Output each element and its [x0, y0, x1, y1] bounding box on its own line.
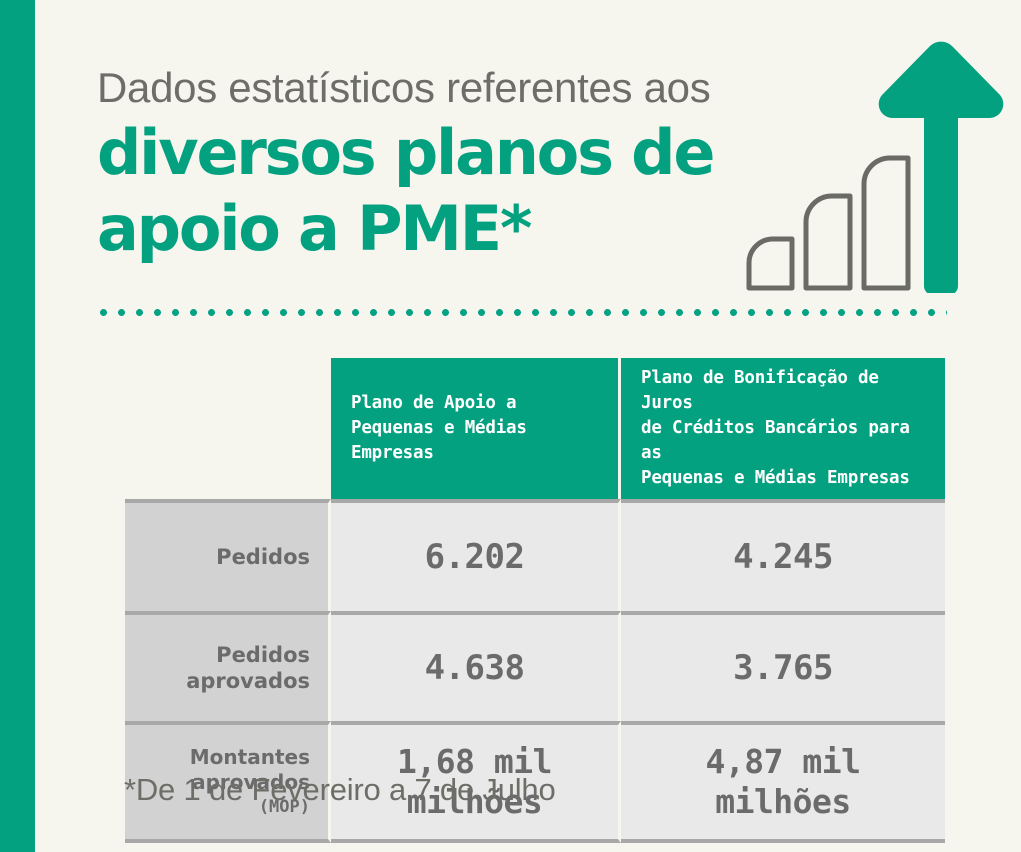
dotted-divider [99, 308, 947, 317]
row-label-line-2: aprovados [135, 668, 310, 694]
column-header-plano-bonificacao-juros: Plano de Bonificação de Juros de Crédito… [621, 358, 945, 499]
table-header-row: Plano de Apoio a Pequenas e Médias Empre… [125, 358, 945, 499]
bar-chart-bars-icon [749, 239, 792, 288]
cell-pedidos-aprovados-plano-apoio: 4.638 [331, 611, 621, 721]
column-header-line-2: de Créditos Bancários para as [641, 416, 935, 466]
statistics-table: Plano de Apoio a Pequenas e Médias Empre… [125, 358, 945, 843]
cell-value: 3.765 [629, 649, 937, 687]
cell-value-line-1: 4,87 mil [629, 742, 937, 782]
table-row: Pedidos 6.202 4.245 [125, 499, 945, 611]
cell-value: 4.638 [339, 649, 610, 687]
cell-montantes-plano-bonificacao: 4,87 mil milhões [621, 721, 945, 843]
cell-pedidos-aprovados-plano-bonificacao: 3.765 [621, 611, 945, 721]
footnote-text: *De 1 de Fevereiro a 7 de Julho [124, 772, 556, 808]
cell-pedidos-plano-bonificacao: 4.245 [621, 499, 945, 611]
table-header: Plano de Apoio a Pequenas e Médias Empre… [125, 358, 945, 499]
column-header-line-1: Plano de Apoio a [351, 391, 608, 416]
cell-value: 6.202 [339, 538, 610, 576]
row-label-pedidos: Pedidos [125, 499, 331, 611]
cell-pedidos-plano-apoio: 6.202 [331, 499, 621, 611]
growth-chart-arrow-icon [742, 38, 1012, 293]
column-header-line-3: Pequenas e Médias Empresas [641, 466, 935, 491]
column-header-line-2: Pequenas e Médias [351, 416, 608, 441]
row-label-line-1: Montantes [135, 745, 310, 770]
table-corner-blank [125, 358, 331, 499]
left-accent-band [0, 0, 35, 852]
table-row: Pedidos aprovados 4.638 3.765 [125, 611, 945, 721]
cell-value: 4.245 [629, 538, 937, 576]
row-label-pedidos-aprovados: Pedidos aprovados [125, 611, 331, 721]
row-label-line-1: Pedidos [135, 642, 310, 668]
up-arrow-icon [879, 42, 1004, 293]
row-label-line-1: Pedidos [135, 544, 310, 570]
column-header-plano-apoio-pme: Plano de Apoio a Pequenas e Médias Empre… [331, 358, 621, 499]
cell-value-line-2: milhões [629, 782, 937, 822]
infographic-canvas: Dados estatísticos referentes aos divers… [0, 0, 1021, 852]
column-header-line-3: Empresas [351, 441, 608, 466]
column-header-line-1: Plano de Bonificação de Juros [641, 366, 935, 416]
